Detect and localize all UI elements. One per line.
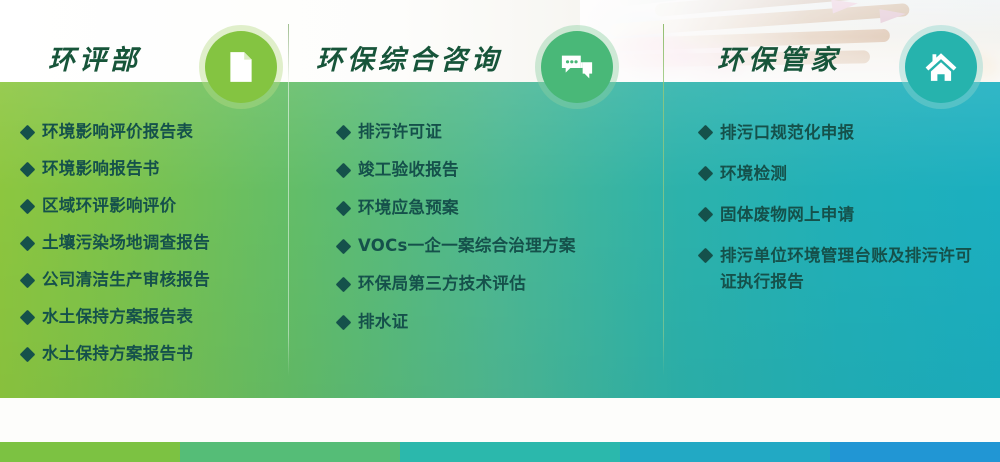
list-item[interactable]: 排污口规范化申报 <box>700 120 988 146</box>
diamond-bullet-icon <box>336 315 352 331</box>
list-item[interactable]: 水土保持方案报告表 <box>22 305 284 329</box>
list-item-label: 环境应急预案 <box>358 196 459 220</box>
list-item-label: 竣工验收报告 <box>358 158 459 182</box>
column-title-eia: 环评部 <box>48 38 141 77</box>
list-item-label: 固体废物网上申请 <box>720 202 854 228</box>
diamond-bullet-icon <box>20 125 36 141</box>
list-item[interactable]: 环境影响评价报告表 <box>22 120 284 144</box>
list-item[interactable]: 环境应急预案 <box>338 196 650 220</box>
list-item-label: 环境影响报告书 <box>42 157 160 181</box>
list-item[interactable]: 环境检测 <box>700 161 988 187</box>
list-item[interactable]: 公司清洁生产审核报告 <box>22 268 284 292</box>
chat-bubbles-icon <box>560 50 594 84</box>
home-icon <box>924 50 958 84</box>
service-catalog-poster: 环评部 环保综合咨询 环保管家 <box>0 0 1000 462</box>
bottom-color-strip <box>0 442 1000 462</box>
column-title-consulting: 环保综合咨询 <box>316 38 502 77</box>
list-item[interactable]: VOCs一企一案综合治理方案 <box>338 234 650 258</box>
diamond-bullet-icon <box>336 125 352 141</box>
diamond-bullet-icon <box>698 207 714 223</box>
list-item[interactable]: 竣工验收报告 <box>338 158 650 182</box>
strip-segment-5 <box>830 442 1000 462</box>
strip-segment-2 <box>180 442 400 462</box>
list-item-label: 区域环评影响评价 <box>42 194 176 218</box>
footer-white-gap <box>0 398 1000 442</box>
list-item-label: 环境影响评价报告表 <box>42 120 193 144</box>
service-list-eia: 环境影响评价报告表 环境影响报告书 区域环评影响评价 土壤污染场地调查报告 公司… <box>22 120 284 379</box>
diamond-bullet-icon <box>336 163 352 179</box>
diamond-bullet-icon <box>336 239 352 255</box>
list-item-label: 排污单位环境管理台账及排污许可证执行报告 <box>720 243 988 295</box>
list-item-label: 排污口规范化申报 <box>720 120 854 146</box>
diamond-bullet-icon <box>20 347 36 363</box>
diamond-bullet-icon <box>698 166 714 182</box>
chat-bubbles-icon-badge <box>541 31 613 103</box>
diamond-bullet-icon <box>20 310 36 326</box>
diamond-bullet-icon <box>20 236 36 252</box>
document-icon <box>224 50 258 84</box>
list-item[interactable]: 固体废物网上申请 <box>700 202 988 228</box>
list-item-label: 公司清洁生产审核报告 <box>42 268 210 292</box>
list-item[interactable]: 排污许可证 <box>338 120 650 144</box>
strip-segment-1 <box>0 442 180 462</box>
diamond-bullet-icon <box>20 273 36 289</box>
diamond-bullet-icon <box>20 162 36 178</box>
list-item-label: 水土保持方案报告表 <box>42 305 193 329</box>
list-item-label: 排水证 <box>358 310 408 334</box>
column-divider-1 <box>288 24 289 376</box>
list-item[interactable]: 水土保持方案报告书 <box>22 342 284 366</box>
document-icon-badge <box>205 31 277 103</box>
diamond-bullet-icon <box>336 277 352 293</box>
list-item[interactable]: 环境影响报告书 <box>22 157 284 181</box>
list-item-label: 环境检测 <box>720 161 787 187</box>
list-item[interactable]: 土壤污染场地调查报告 <box>22 231 284 255</box>
strip-segment-3 <box>400 442 620 462</box>
service-list-consulting: 排污许可证 竣工验收报告 环境应急预案 VOCs一企一案综合治理方案 环保局第三… <box>338 120 650 348</box>
home-icon-badge <box>905 31 977 103</box>
diamond-bullet-icon <box>698 248 714 264</box>
list-item[interactable]: 排污单位环境管理台账及排污许可证执行报告 <box>700 243 988 295</box>
list-item[interactable]: 排水证 <box>338 310 650 334</box>
diamond-bullet-icon <box>698 125 714 141</box>
column-divider-2 <box>663 24 664 376</box>
diamond-bullet-icon <box>20 199 36 215</box>
list-item-label: 水土保持方案报告书 <box>42 342 193 366</box>
list-item[interactable]: 区域环评影响评价 <box>22 194 284 218</box>
list-item[interactable]: 环保局第三方技术评估 <box>338 272 650 296</box>
diamond-bullet-icon <box>336 201 352 217</box>
list-item-label: 环保局第三方技术评估 <box>358 272 526 296</box>
list-item-label: VOCs一企一案综合治理方案 <box>358 234 576 258</box>
column-title-steward: 环保管家 <box>717 38 841 77</box>
list-item-label: 土壤污染场地调查报告 <box>42 231 210 255</box>
list-item-label: 排污许可证 <box>358 120 442 144</box>
service-list-steward: 排污口规范化申报 环境检测 固体废物网上申请 排污单位环境管理台账及排污许可证执… <box>700 120 988 310</box>
strip-segment-4 <box>620 442 830 462</box>
